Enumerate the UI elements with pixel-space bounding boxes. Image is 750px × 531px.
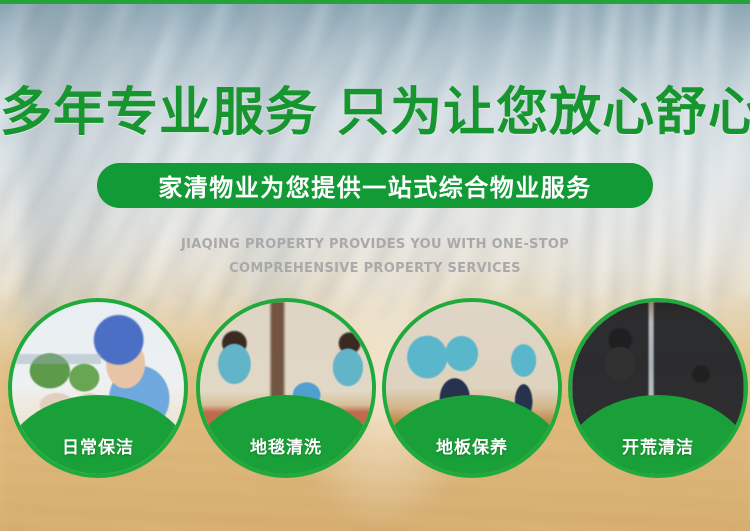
service-label-floor-maintenance: 地板保养 (386, 433, 558, 458)
service-circle-floor-maintenance[interactable]: 地板保养 (382, 298, 562, 478)
english-subtitle-line-1: JIAQING PROPERTY PROVIDES YOU WITH ONE-S… (0, 233, 750, 257)
english-subtitle: JIAQING PROPERTY PROVIDES YOU WITH ONE-S… (0, 233, 750, 281)
english-subtitle-line-2: COMPREHENSIVE PROPERTY SERVICES (0, 257, 750, 281)
service-circle-carpet-cleaning[interactable]: 地毯清洗 (196, 298, 376, 478)
service-label-daily-cleaning: 日常保洁 (12, 433, 184, 458)
service-circle-post-construction-cleaning[interactable]: 开荒清洁 (568, 298, 748, 478)
service-circle-daily-cleaning[interactable]: 日常保洁 (8, 298, 188, 478)
top-accent-rule (0, 0, 750, 4)
service-label-post-construction-cleaning: 开荒清洁 (572, 433, 744, 458)
headline: 多年专业服务 只为让您放心舒心 (0, 84, 750, 142)
promotional-banner: 多年专业服务 只为让您放心舒心 家清物业为您提供一站式综合物业服务 JIAQIN… (0, 0, 750, 531)
service-circles-row: 日常保洁 地毯清洗 地板保养 开荒清洁 (0, 298, 750, 483)
tagline-pill: 家清物业为您提供一站式综合物业服务 (97, 163, 653, 208)
service-label-carpet-cleaning: 地毯清洗 (200, 433, 372, 458)
tagline-text: 家清物业为您提供一站式综合物业服务 (158, 168, 592, 203)
